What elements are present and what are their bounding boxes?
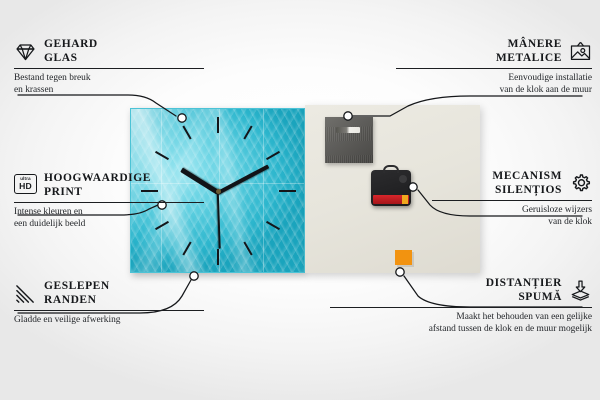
feature-divider <box>14 68 204 69</box>
feature-hd-print: ultra HD HOOGWAARDIGE PRINT Intense kleu… <box>14 172 204 230</box>
feature-header: MÂNERE METALICE <box>396 38 592 65</box>
feature-title: GEHARD GLAS <box>44 38 98 65</box>
connector-metal-handles <box>353 96 582 116</box>
feature-description: Geruisloze wijzers van de klok <box>432 205 592 228</box>
connector-tempered-glass <box>18 95 176 116</box>
feature-description: Eenvoudige installatie van de klok aan d… <box>396 73 592 96</box>
feature-divider <box>396 68 592 69</box>
feature-title: HOOGWAARDIGE PRINT <box>44 172 151 199</box>
feature-foam-spacer: DISTANȚIER SPUMĂ Maakt het behouden van … <box>330 277 592 335</box>
gear-icon <box>569 172 592 195</box>
feature-header: GESLEPEN RANDEN <box>14 280 204 307</box>
connector-dot-foam-spacer <box>396 268 404 276</box>
feature-divider <box>14 202 204 203</box>
spacer-press-icon <box>569 279 592 302</box>
feature-header: MECANISM SILENȚIOS <box>432 170 592 197</box>
feature-description: Gladde en veilige afwerking <box>14 315 204 327</box>
feature-title: MECANISM SILENȚIOS <box>492 170 562 197</box>
feature-header: GEHARD GLAS <box>14 38 204 65</box>
feature-divider <box>14 310 204 311</box>
feature-silent-mechanism: MECANISM SILENȚIOS Geruisloze wijzers va… <box>432 170 592 228</box>
wall-hanger-icon <box>569 40 592 63</box>
connector-dot-metal-handles <box>344 112 352 120</box>
feature-description: Maakt het behouden van een gelijke afsta… <box>330 312 592 335</box>
connector-dot-silent-mechanism <box>409 183 417 191</box>
feature-description: Intense kleuren en een duidelijk beeld <box>14 207 204 230</box>
feature-title: DISTANȚIER SPUMĂ <box>486 277 562 304</box>
infographic-canvas: GEHARD GLAS Bestand tegen breuk en krass… <box>0 0 600 400</box>
feature-divider <box>432 200 592 201</box>
feature-header: DISTANȚIER SPUMĂ <box>330 277 592 304</box>
feature-tempered-glass: GEHARD GLAS Bestand tegen breuk en krass… <box>14 38 204 96</box>
feature-description: Bestand tegen breuk en krassen <box>14 73 204 96</box>
feature-metal-handles: MÂNERE METALICE Eenvoudige installatie v… <box>396 38 592 96</box>
feature-divider <box>330 307 592 308</box>
feature-title: GESLEPEN RANDEN <box>44 280 110 307</box>
feature-title: MÂNERE METALICE <box>496 38 562 65</box>
feature-header: ultra HD HOOGWAARDIGE PRINT <box>14 172 204 199</box>
beveled-edge-icon <box>14 282 37 305</box>
feature-polished-edges: GESLEPEN RANDEN Gladde en veilige afwerk… <box>14 280 204 327</box>
diamond-icon <box>14 40 37 63</box>
connector-dot-polished-edges <box>190 272 198 280</box>
ultra-hd-icon: ultra HD <box>14 174 37 197</box>
connector-dot-tempered-glass <box>178 114 186 122</box>
